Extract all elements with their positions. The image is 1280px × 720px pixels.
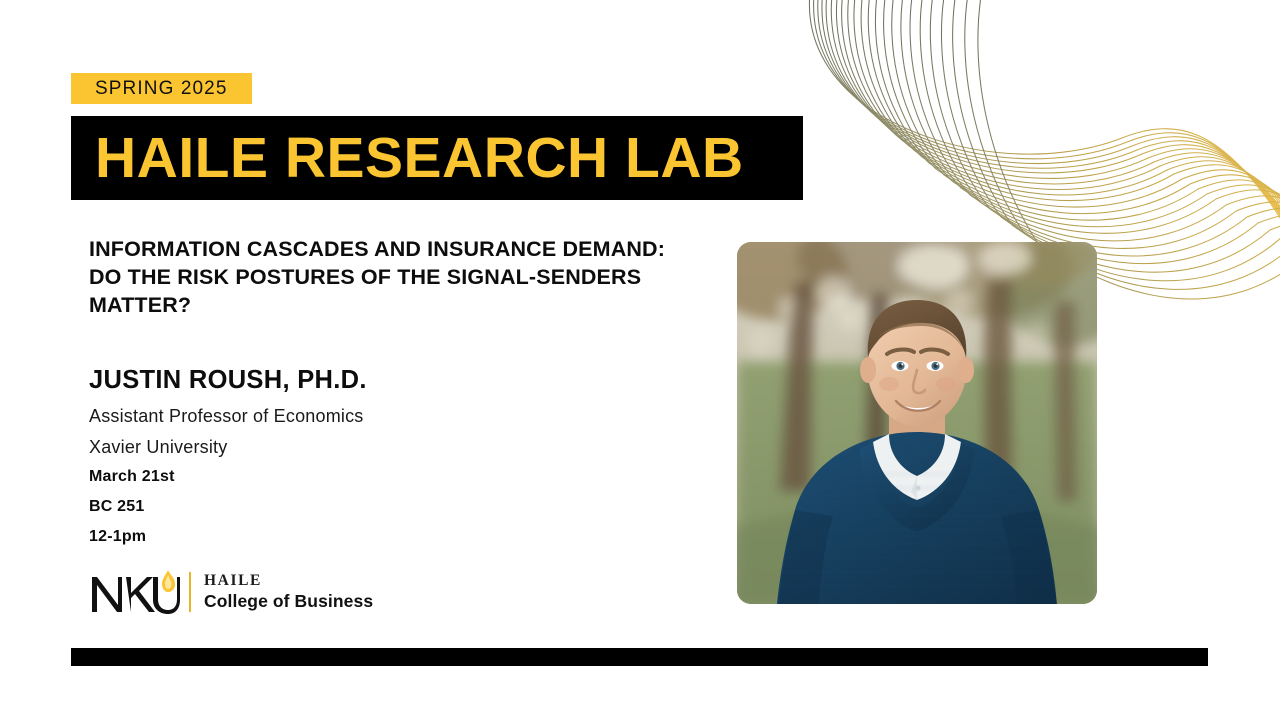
speaker-affiliation: Xavier University	[89, 432, 689, 462]
speaker-portrait	[737, 242, 1097, 604]
footer-rule	[71, 648, 1208, 666]
content-column: INFORMATION CASCADES AND INSURANCE DEMAN…	[89, 236, 689, 552]
flyer-slide: SPRING 2025 HAILE RESEARCH LAB INFORMATI…	[0, 0, 1280, 720]
speaker-position: Assistant Professor of Economics	[89, 401, 689, 431]
term-badge-label: SPRING 2025	[95, 79, 228, 98]
event-location: BC 251	[89, 492, 689, 522]
series-title-band: HAILE RESEARCH LAB	[71, 116, 803, 200]
logo-haile-text: HAILE	[204, 572, 373, 590]
nku-haile-logo-lockup: HAILE College of Business	[89, 566, 373, 618]
event-time: 12-1pm	[89, 522, 689, 552]
logo-divider	[189, 572, 191, 612]
term-badge: SPRING 2025	[71, 73, 252, 104]
logo-wordmark: HAILE College of Business	[204, 572, 373, 612]
speaker-name: JUSTIN ROUSH, PH.D.	[89, 366, 689, 395]
nku-flame-icon	[89, 567, 181, 617]
speaker-block: JUSTIN ROUSH, PH.D. Assistant Professor …	[89, 366, 689, 552]
event-date: March 21st	[89, 462, 689, 492]
logo-college-text: College of Business	[204, 591, 373, 612]
series-title: HAILE RESEARCH LAB	[95, 130, 744, 187]
talk-title: INFORMATION CASCADES AND INSURANCE DEMAN…	[89, 236, 679, 320]
